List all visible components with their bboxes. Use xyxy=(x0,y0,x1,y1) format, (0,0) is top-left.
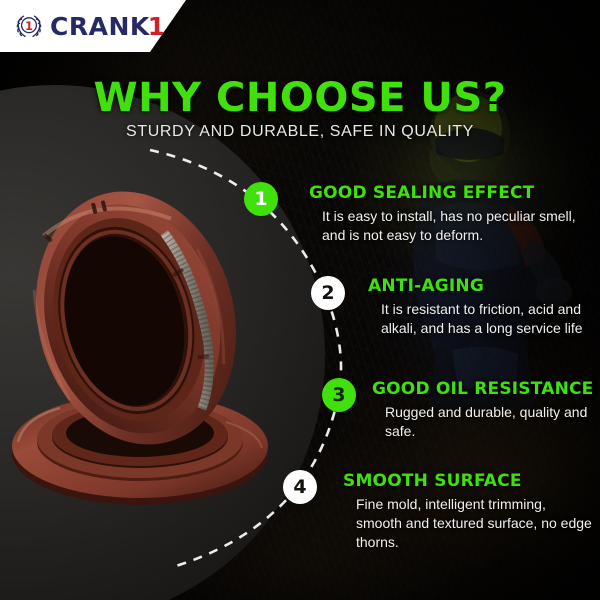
feature-block-4: SMOOTH SURFACE Fine mold, intelligent tr… xyxy=(343,471,593,552)
feature-body-3: Rugged and durable, quality and safe. xyxy=(372,403,598,441)
promotional-poster: 1 CRANK 1 WHY CHOOSE US? STURDY AND DURA… xyxy=(0,0,600,600)
feature-marker-1[interactable]: 1 xyxy=(244,182,278,216)
feature-block-1: GOOD SEALING EFFECT It is easy to instal… xyxy=(309,183,589,245)
feature-marker-4[interactable]: 4 xyxy=(283,470,317,504)
feature-marker-2[interactable]: 2 xyxy=(311,276,345,310)
feature-block-3: GOOD OIL RESISTANCE Rugged and durable, … xyxy=(372,379,598,441)
feature-heading-1: GOOD SEALING EFFECT xyxy=(309,183,589,204)
feature-block-2: ANTI-AGING It is resistant to friction, … xyxy=(368,276,600,338)
feature-marker-3[interactable]: 3 xyxy=(322,378,356,412)
feature-heading-3: GOOD OIL RESISTANCE xyxy=(372,379,598,400)
feature-body-4: Fine mold, intelligent trimming, smooth … xyxy=(343,495,593,552)
feature-heading-4: SMOOTH SURFACE xyxy=(343,471,593,492)
feature-body-1: It is easy to install, has no peculiar s… xyxy=(309,207,589,245)
feature-heading-2: ANTI-AGING xyxy=(368,276,600,297)
feature-body-2: It is resistant to friction, acid and al… xyxy=(368,300,600,338)
